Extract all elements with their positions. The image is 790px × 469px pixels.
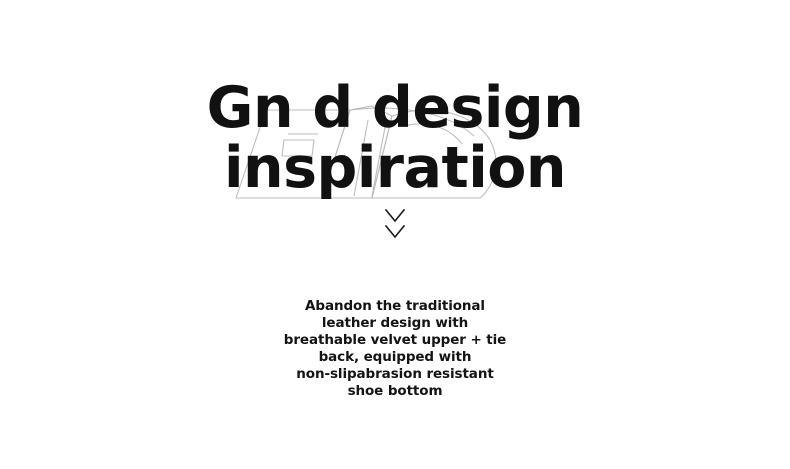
chevron-down-icon bbox=[384, 208, 406, 223]
description-line: leather design with bbox=[0, 315, 790, 332]
page-canvas: Gn d design inspiration Abandon the trad… bbox=[0, 0, 790, 469]
product-description: Abandon the traditional leather design w… bbox=[0, 298, 790, 400]
description-line: non-slipabrasion resistant bbox=[0, 366, 790, 383]
hero-heading: Gn d design inspiration bbox=[0, 78, 790, 198]
description-line: back, equipped with bbox=[0, 349, 790, 366]
hero-heading-line-1: Gn d design bbox=[0, 78, 790, 138]
description-line: Abandon the traditional bbox=[0, 298, 790, 315]
scroll-down-indicator[interactable] bbox=[0, 208, 790, 239]
chevron-down-icon bbox=[384, 224, 406, 239]
description-line: breathable velvet upper + tie bbox=[0, 332, 790, 349]
description-line: shoe bottom bbox=[0, 383, 790, 400]
hero-heading-line-2: inspiration bbox=[0, 138, 790, 198]
